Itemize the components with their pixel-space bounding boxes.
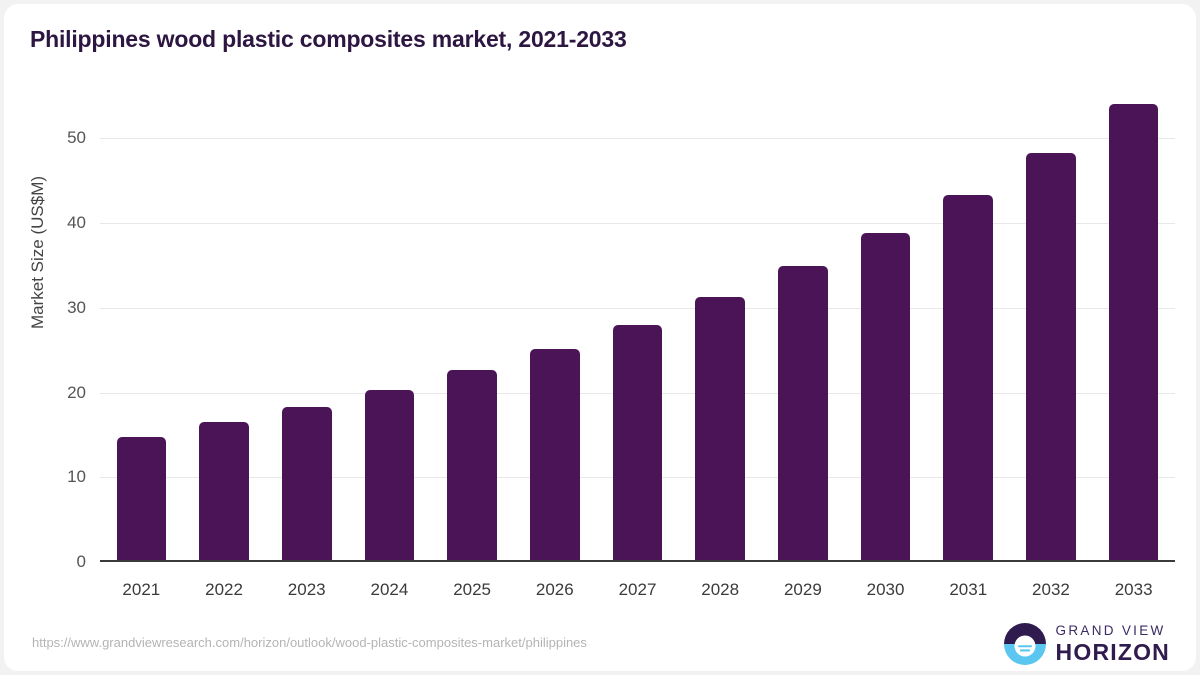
x-axis-tick-label: 2025 — [453, 580, 491, 600]
gridline — [100, 308, 1175, 309]
y-axis-tick-label: 20 — [28, 383, 86, 403]
y-axis-tick-label: 10 — [28, 467, 86, 487]
x-axis-tick-label: 2032 — [1032, 580, 1070, 600]
y-axis-tick-label: 30 — [28, 298, 86, 318]
x-axis-tick-label: 2021 — [122, 580, 160, 600]
chart-title: Philippines wood plastic composites mark… — [30, 26, 627, 53]
bar[interactable] — [530, 349, 580, 562]
chart-card: Philippines wood plastic composites mark… — [4, 4, 1196, 671]
x-axis-tick-label: 2023 — [288, 580, 326, 600]
plot-area — [100, 96, 1175, 562]
bar[interactable] — [695, 297, 745, 562]
y-axis-tick-label: 0 — [28, 552, 86, 572]
x-axis-tick-label: 2029 — [784, 580, 822, 600]
bar[interactable] — [778, 266, 828, 562]
y-axis-tick-label: 40 — [28, 213, 86, 233]
x-axis-tick-label: 2030 — [867, 580, 905, 600]
grand-view-horizon-logo[interactable]: GRAND VIEW HORIZON — [1003, 621, 1170, 667]
x-axis-tick-label: 2028 — [701, 580, 739, 600]
bar[interactable] — [365, 390, 415, 562]
x-axis-tick-label: 2031 — [949, 580, 987, 600]
gridline — [100, 223, 1175, 224]
bar[interactable] — [1109, 104, 1159, 562]
y-axis-tick-label: 50 — [28, 128, 86, 148]
bar[interactable] — [447, 370, 497, 562]
bar[interactable] — [199, 422, 249, 562]
logo-line-grand-view: GRAND VIEW — [1056, 624, 1170, 638]
bar[interactable] — [613, 325, 663, 562]
horizon-circle-icon — [1003, 622, 1047, 666]
bar[interactable] — [282, 407, 332, 562]
x-axis-tick-label: 2027 — [619, 580, 657, 600]
source-url[interactable]: https://www.grandviewresearch.com/horizo… — [32, 635, 587, 650]
x-axis-tick-label: 2024 — [371, 580, 409, 600]
x-axis-tick-label: 2033 — [1115, 580, 1153, 600]
logo-line-horizon: HORIZON — [1056, 641, 1170, 664]
x-axis-line — [100, 560, 1175, 562]
x-axis-tick-label: 2022 — [205, 580, 243, 600]
gridline — [100, 138, 1175, 139]
x-axis-tick-label: 2026 — [536, 580, 574, 600]
bar[interactable] — [1026, 153, 1076, 562]
bar[interactable] — [861, 233, 911, 562]
logo-wordmark: GRAND VIEW HORIZON — [1056, 624, 1170, 664]
bar[interactable] — [117, 437, 167, 562]
bar[interactable] — [943, 195, 993, 562]
